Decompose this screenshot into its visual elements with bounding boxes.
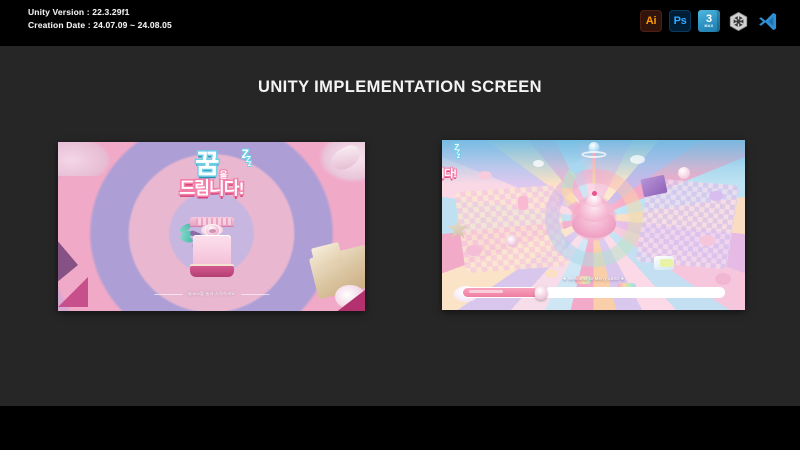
bed-footboard [190, 266, 234, 277]
game-logo-row-one: 꿈 을 ZZZ [442, 145, 478, 165]
magenta-prop-bottom-right [335, 287, 365, 311]
project-metadata: Unity Version : 22.3.29f1 Creation Date … [28, 7, 172, 30]
cake-layer-top [586, 195, 602, 207]
pink-prop-bottom-left [58, 277, 88, 307]
game-logo-word-particle: 을 [219, 171, 227, 180]
game-logo-word-main: 꿈 [195, 151, 218, 177]
game-logo-row-one: 꿈 을 ZZZ [160, 151, 264, 181]
hint-dash-left [154, 294, 182, 295]
cloud-decoration-top-left [58, 142, 112, 176]
top-header-bar: Unity Version : 22.3.29f1 Creation Date … [0, 0, 800, 46]
game-logo: 꿈 을 ZZZ 드림니다! [442, 145, 478, 179]
game-logo-row-two: 드림니다! [160, 180, 264, 199]
bed-prop [188, 217, 236, 281]
photoshop-icon[interactable]: Ps [669, 10, 691, 32]
start-hint-text: space를 눌러 시작하세요 [188, 291, 235, 297]
start-hint: space를 눌러 시작하세요 [154, 291, 269, 297]
software-icon-row: Ai Ps 3 MAX [640, 10, 778, 32]
screenshot-title-screen[interactable]: 꿈 을 ZZZ 드림니다! [58, 142, 365, 311]
game-logo-word-sub: 드림니다! [179, 179, 243, 198]
screenshot-gallery: 꿈 을 ZZZ 드림니다! [0, 140, 800, 312]
game-logo-row-two: 드림니다! [442, 164, 478, 182]
vscode-icon[interactable] [756, 10, 778, 32]
unity-version-label: Unity Version : 22.3.29f1 [28, 7, 172, 17]
page-title: UNITY IMPLEMENTATION SCREEN [0, 78, 800, 97]
sleep-marks-icon: ZZZ [454, 144, 466, 153]
cake-cherry [592, 191, 597, 196]
3ds-max-icon-number: 3 [706, 14, 712, 24]
loading-tip-text: ★ Welcome to Merry Land ★ [563, 276, 625, 282]
center-cake-prop [570, 194, 618, 242]
tower-ring [581, 151, 606, 158]
knob-character-face [535, 286, 548, 300]
3ds-max-icon[interactable]: 3 MAX [698, 10, 720, 32]
illustrator-icon[interactable]: Ai [640, 10, 662, 32]
loading-progress-bar [462, 287, 725, 298]
unity-icon[interactable] [727, 10, 749, 32]
photoshop-icon-label: Ps [674, 16, 687, 27]
loading-progress-fill [463, 288, 541, 297]
bottom-footer-bar [0, 406, 800, 450]
screenshot-game-world[interactable]: 꿈 을 ZZZ 드림니다! ★ Welcome to Merry Land ★ [442, 140, 745, 310]
game-logo-word-sub: 드림니다! [442, 168, 456, 180]
illustrator-icon-label: Ai [646, 16, 656, 27]
hint-dash-right [241, 294, 269, 295]
game-logo: 꿈 을 ZZZ 드림니다! [160, 151, 264, 205]
sleep-marks-icon: ZZZ [242, 149, 258, 163]
center-tower-prop [587, 142, 600, 184]
3ds-max-icon-word: MAX [705, 24, 714, 29]
loading-progress-knob [534, 283, 549, 302]
creation-date-label: Creation Date : 24.07.09 ~ 24.08.05 [28, 20, 172, 30]
